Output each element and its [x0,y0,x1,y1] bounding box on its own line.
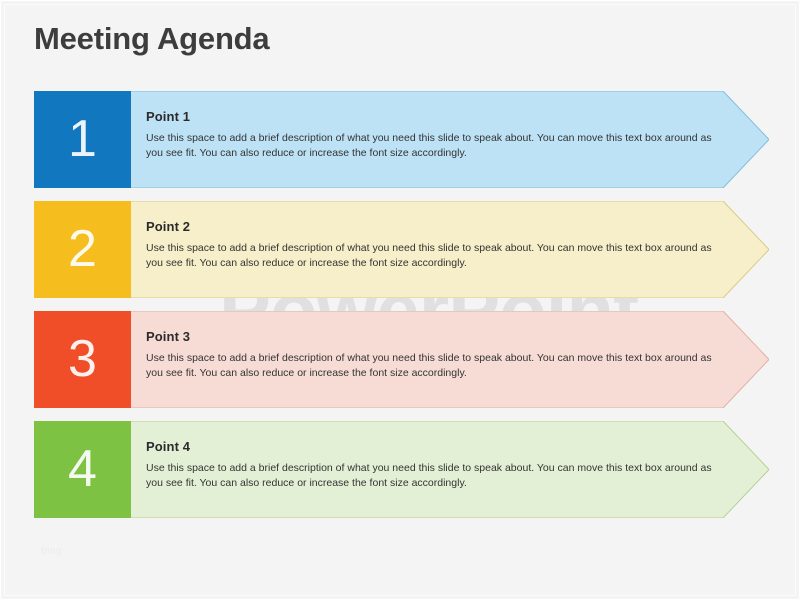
row-description: Use this space to add a brief descriptio… [146,461,724,491]
row-number: 3 [68,333,97,385]
row-content: Point 3Use this space to add a brief des… [146,329,726,381]
row-content: Point 2Use this space to add a brief des… [146,219,726,271]
row-description: Use this space to add a brief descriptio… [146,131,724,161]
row-content: Point 1Use this space to add a brief des… [146,109,726,161]
row-heading: Point 2 [146,219,726,234]
row-number-box: 4 [34,421,131,518]
agenda-row[interactable]: 1Point 1Use this space to add a brief de… [34,91,769,188]
slide-canvas: Meeting Agenda Made for PowerPoint 1Poin… [0,0,800,600]
agenda-row[interactable]: 2Point 2Use this space to add a brief de… [34,201,769,298]
row-number: 4 [68,443,97,495]
row-heading: Point 4 [146,439,726,454]
row-heading: Point 1 [146,109,726,124]
agenda-row[interactable]: 3Point 3Use this space to add a brief de… [34,311,769,408]
agenda-row[interactable]: 4Point 4Use this space to add a brief de… [34,421,769,518]
row-heading: Point 3 [146,329,726,344]
agenda-rows-container: 1Point 1Use this space to add a brief de… [1,1,800,600]
row-number-box: 1 [34,91,131,188]
row-number: 1 [68,113,97,165]
row-number-box: 3 [34,311,131,408]
row-description: Use this space to add a brief descriptio… [146,351,724,381]
row-content: Point 4Use this space to add a brief des… [146,439,726,491]
row-number: 2 [68,223,97,275]
row-description: Use this space to add a brief descriptio… [146,241,724,271]
row-number-box: 2 [34,201,131,298]
